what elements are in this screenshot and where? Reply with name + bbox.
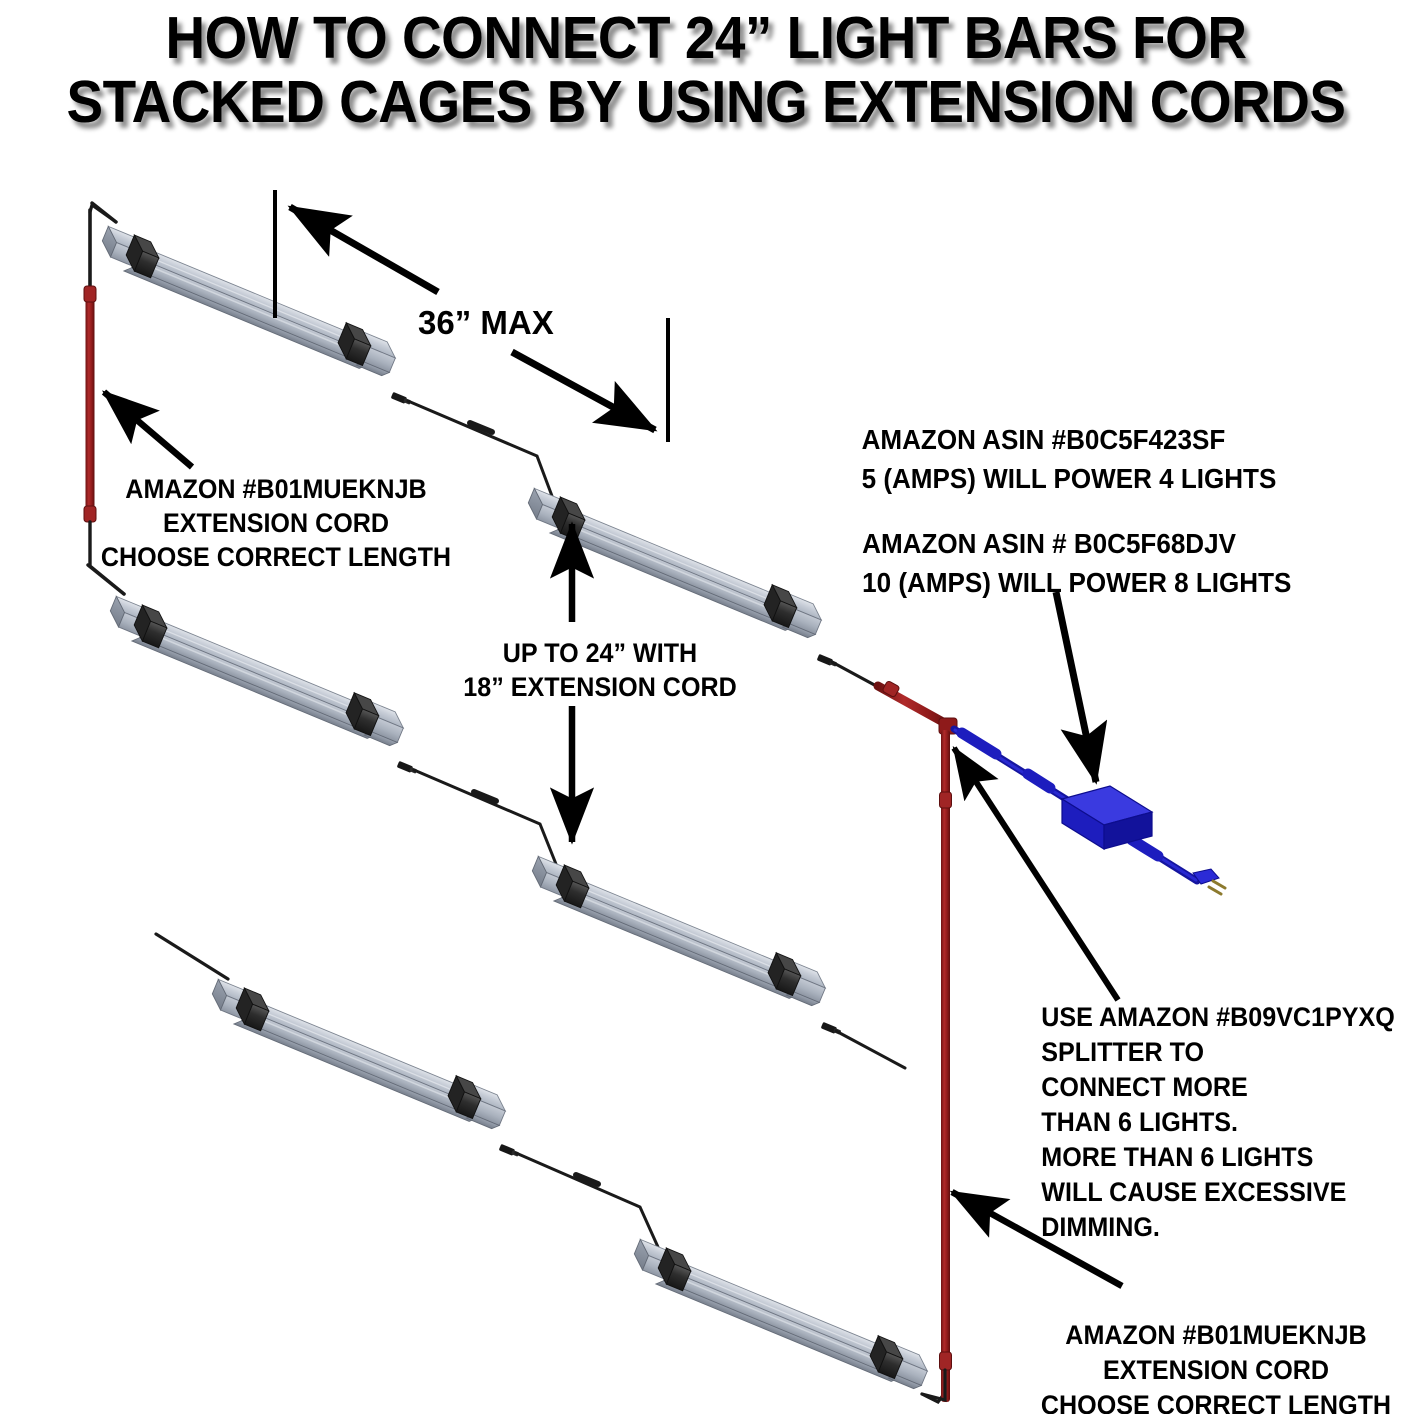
callout-line: CHOOSE CORRECT LENGTH (99, 540, 452, 574)
callout-line: THAN 6 LIGHTS. (1041, 1105, 1395, 1140)
cord-segment (516, 1153, 658, 1247)
callout-line: 5 (AMPS) WILL POWER 4 LIGHTS (862, 459, 1277, 498)
callout-splitter: USE AMAZON #B09VC1PYXQ SPLITTER TO CONNE… (1028, 1000, 1408, 1245)
red-extension-cord-body (941, 730, 950, 1402)
cord-ferrule (940, 1352, 952, 1370)
plug-connector (499, 1144, 520, 1158)
dimension-arrow-right (512, 352, 655, 430)
plug-prong (1209, 887, 1221, 894)
cord-ferrule (474, 792, 496, 801)
cord-ferrule (576, 1175, 598, 1184)
plug-prong (1213, 881, 1225, 888)
callout-line: AMAZON ASIN #B0C5F423SF (862, 420, 1277, 459)
light-bar-3 (103, 595, 409, 750)
dimension-label-36max: 36” MAX (418, 304, 554, 341)
splitter-assembly (878, 680, 957, 1402)
plug-connector (391, 392, 412, 406)
adapter-sleeve (1028, 774, 1050, 788)
callout-line: 10 (AMPS) WILL POWER 8 LIGHTS (862, 563, 1291, 602)
light-bar-row-3 (156, 934, 944, 1402)
infographic-page: HOW TO CONNECT 24” LIGHT BARS FOR STACKE… (0, 0, 1412, 1414)
cord-ferrule (940, 792, 952, 808)
callout-line: USE AMAZON #B09VC1PYXQ (1041, 1000, 1395, 1035)
cord-segment (414, 770, 556, 864)
plug-connector (397, 761, 418, 775)
callout-line: 18” EXTENSION CORD (442, 670, 758, 704)
adapter-sleeve (962, 733, 996, 754)
callout-line: UP TO 24” WITH (442, 636, 758, 670)
light-bar-5 (205, 978, 511, 1133)
dimension-arrow-left (290, 207, 438, 292)
callout-up-to-24: UP TO 24” WITH 18” EXTENSION CORD (430, 636, 770, 704)
callout-line: AMAZON ASIN # B0C5F68DJV (862, 524, 1291, 563)
callout-line: SPLITTER TO (1041, 1035, 1395, 1070)
callout-line: WILL CAUSE EXCESSIVE (1041, 1175, 1395, 1210)
callout-left-extension-cord: AMAZON #B01MUEKNJB EXTENSION CORD CHOOSE… (86, 472, 466, 574)
light-bar-4 (525, 855, 831, 1010)
adapter-sleeve (1132, 840, 1158, 856)
leader-left-cord (104, 392, 192, 467)
callout-bottom-extension-cord: AMAZON #B01MUEKNJB EXTENSION CORD CHOOSE… (1020, 1318, 1412, 1414)
callout-line: MORE THAN 6 LIGHTS (1041, 1140, 1395, 1175)
callout-line: AMAZON #B01MUEKNJB (1034, 1318, 1399, 1353)
leader-arrow (104, 392, 192, 467)
callout-line: AMAZON #B01MUEKNJB (99, 472, 452, 506)
dimension-36-max: 36” MAX (275, 190, 668, 442)
callout-asin-5amp: AMAZON ASIN #B0C5F423SF 5 (AMPS) WILL PO… (846, 420, 1292, 498)
cord-ferrule (84, 286, 96, 302)
cord-segment (156, 934, 228, 979)
leader-arrow (1056, 592, 1096, 782)
cord-segment (90, 205, 116, 222)
leader-power-adapter (1056, 592, 1096, 782)
light-bar-row-1 (92, 203, 880, 688)
callout-line: CHOOSE CORRECT LENGTH (1034, 1388, 1399, 1414)
light-bar-6 (627, 1238, 933, 1393)
leader-arrow (954, 748, 1118, 1000)
callout-line: CONNECT MORE (1041, 1070, 1395, 1105)
callout-line: DIMMING. (1041, 1210, 1395, 1245)
cord-segment (836, 1031, 905, 1068)
leader-splitter-upper (954, 748, 1118, 1000)
callout-line: EXTENSION CORD (99, 506, 452, 540)
plug-connector (817, 654, 838, 668)
callout-asin-10amp: AMAZON ASIN # B0C5F68DJV 10 (AMPS) WILL … (846, 524, 1308, 602)
light-bar-2 (521, 487, 827, 642)
cord-segment (832, 662, 880, 688)
cord-ferrule (470, 423, 492, 432)
callout-line: EXTENSION CORD (1034, 1353, 1399, 1388)
adapter-brick (1062, 786, 1152, 849)
